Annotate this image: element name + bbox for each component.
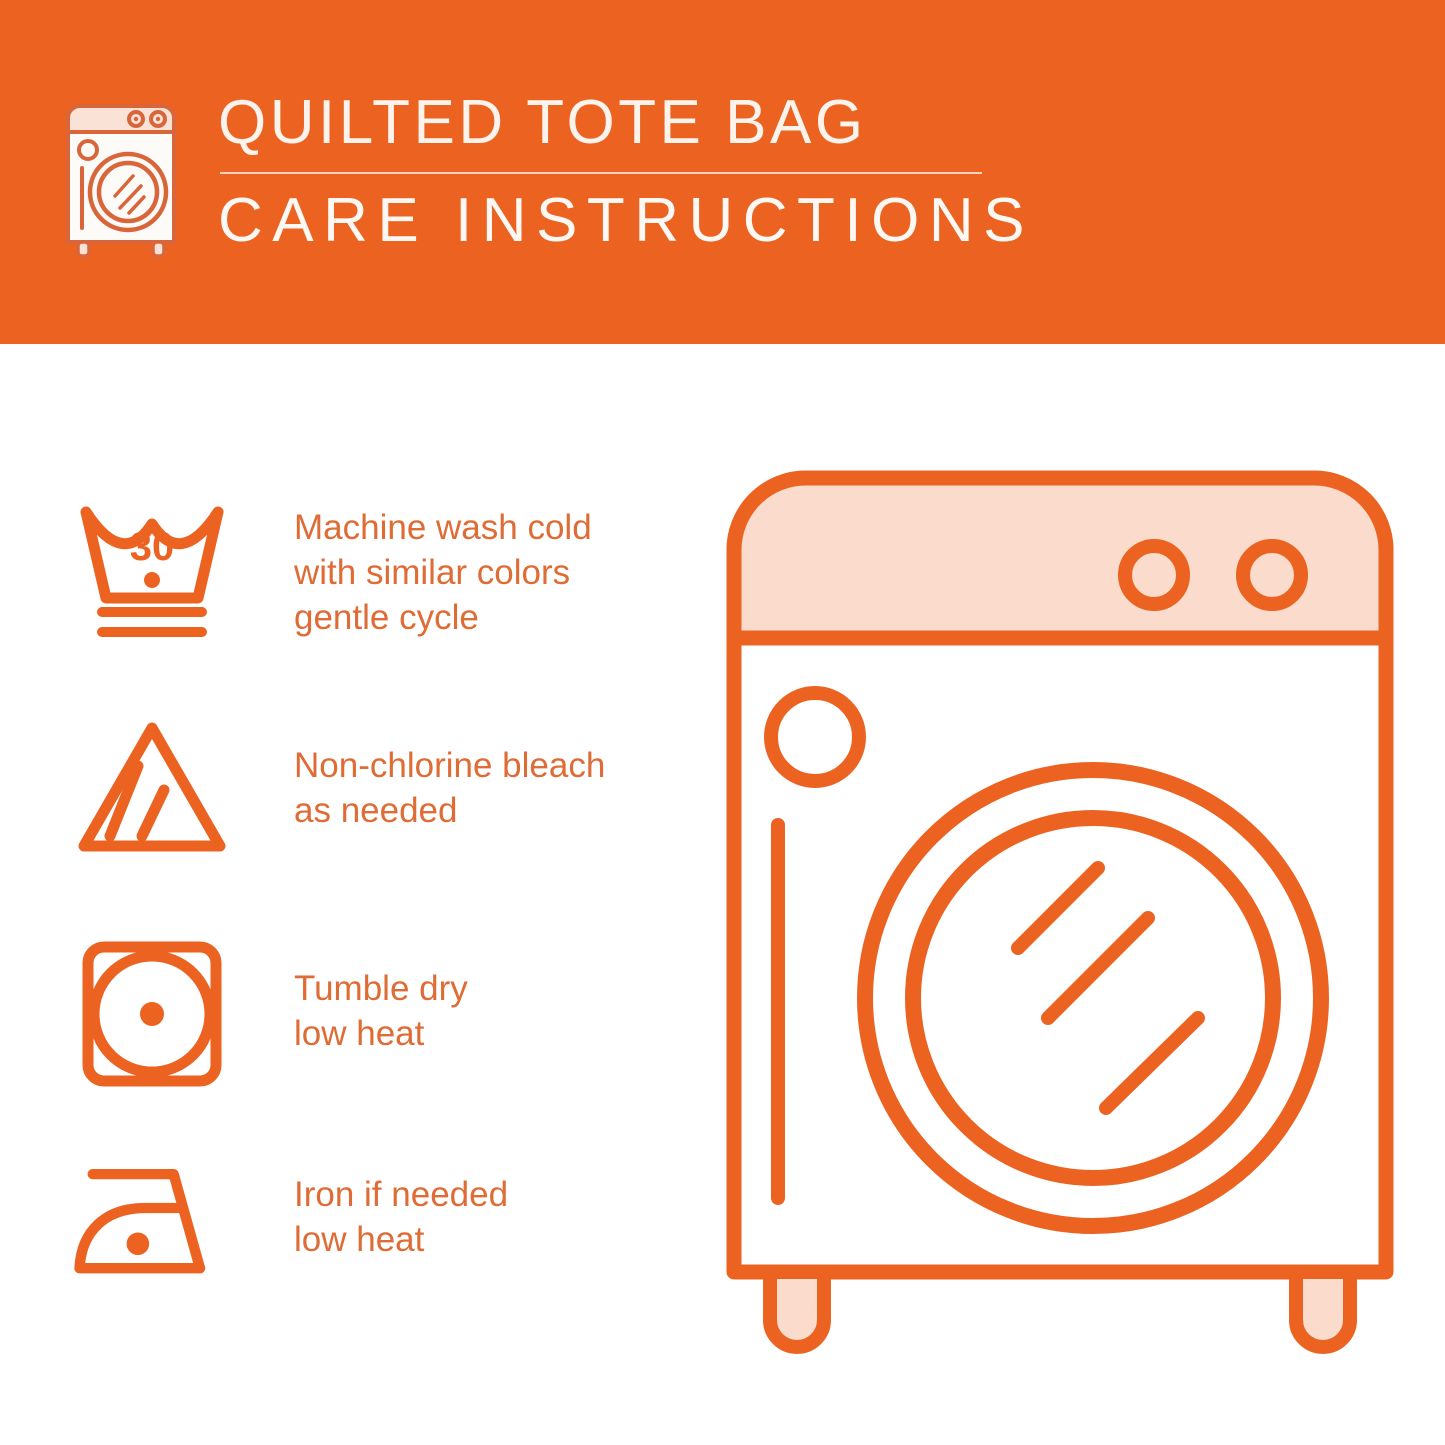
washing-machine-icon — [62, 100, 180, 258]
machine-wash-basin-icon: 30 — [72, 494, 232, 644]
list-item: Tumble dry low heat — [72, 939, 692, 1089]
header-banner: QUILTED TOTE BAG CARE INSTRUCTIONS — [0, 0, 1445, 344]
leg-right — [1296, 1272, 1350, 1347]
list-item: Iron if needed low heat — [72, 1149, 692, 1299]
header-title-block: QUILTED TOTE BAG CARE INSTRUCTIONS — [218, 92, 1034, 252]
list-item-label: Tumble dry low heat — [294, 939, 468, 1057]
title-divider — [220, 172, 982, 174]
list-item-label: Iron if needed low heat — [294, 1149, 508, 1263]
iron-low-heat-icon — [72, 1149, 232, 1299]
page-title: QUILTED TOTE BAG — [218, 92, 1034, 154]
list-item-label: Machine wash cold with similar colors ge… — [294, 494, 592, 640]
large-washing-machine-illustration — [700, 440, 1420, 1390]
care-instruction-list: 30 Machine wash cold with similar colors… — [0, 344, 700, 1445]
non-chlorine-bleach-triangle-icon — [72, 714, 232, 864]
header-content: QUILTED TOTE BAG CARE INSTRUCTIONS — [62, 96, 1034, 258]
tumble-dry-low-icon — [72, 939, 232, 1089]
list-item: 30 Machine wash cold with similar colors… — [72, 494, 692, 644]
list-item-label: Non-chlorine bleach as needed — [294, 714, 605, 834]
leg-left — [770, 1272, 824, 1347]
svg-text:30: 30 — [130, 525, 175, 569]
list-item: Non-chlorine bleach as needed — [72, 714, 692, 864]
page-subtitle: CARE INSTRUCTIONS — [218, 190, 1034, 252]
